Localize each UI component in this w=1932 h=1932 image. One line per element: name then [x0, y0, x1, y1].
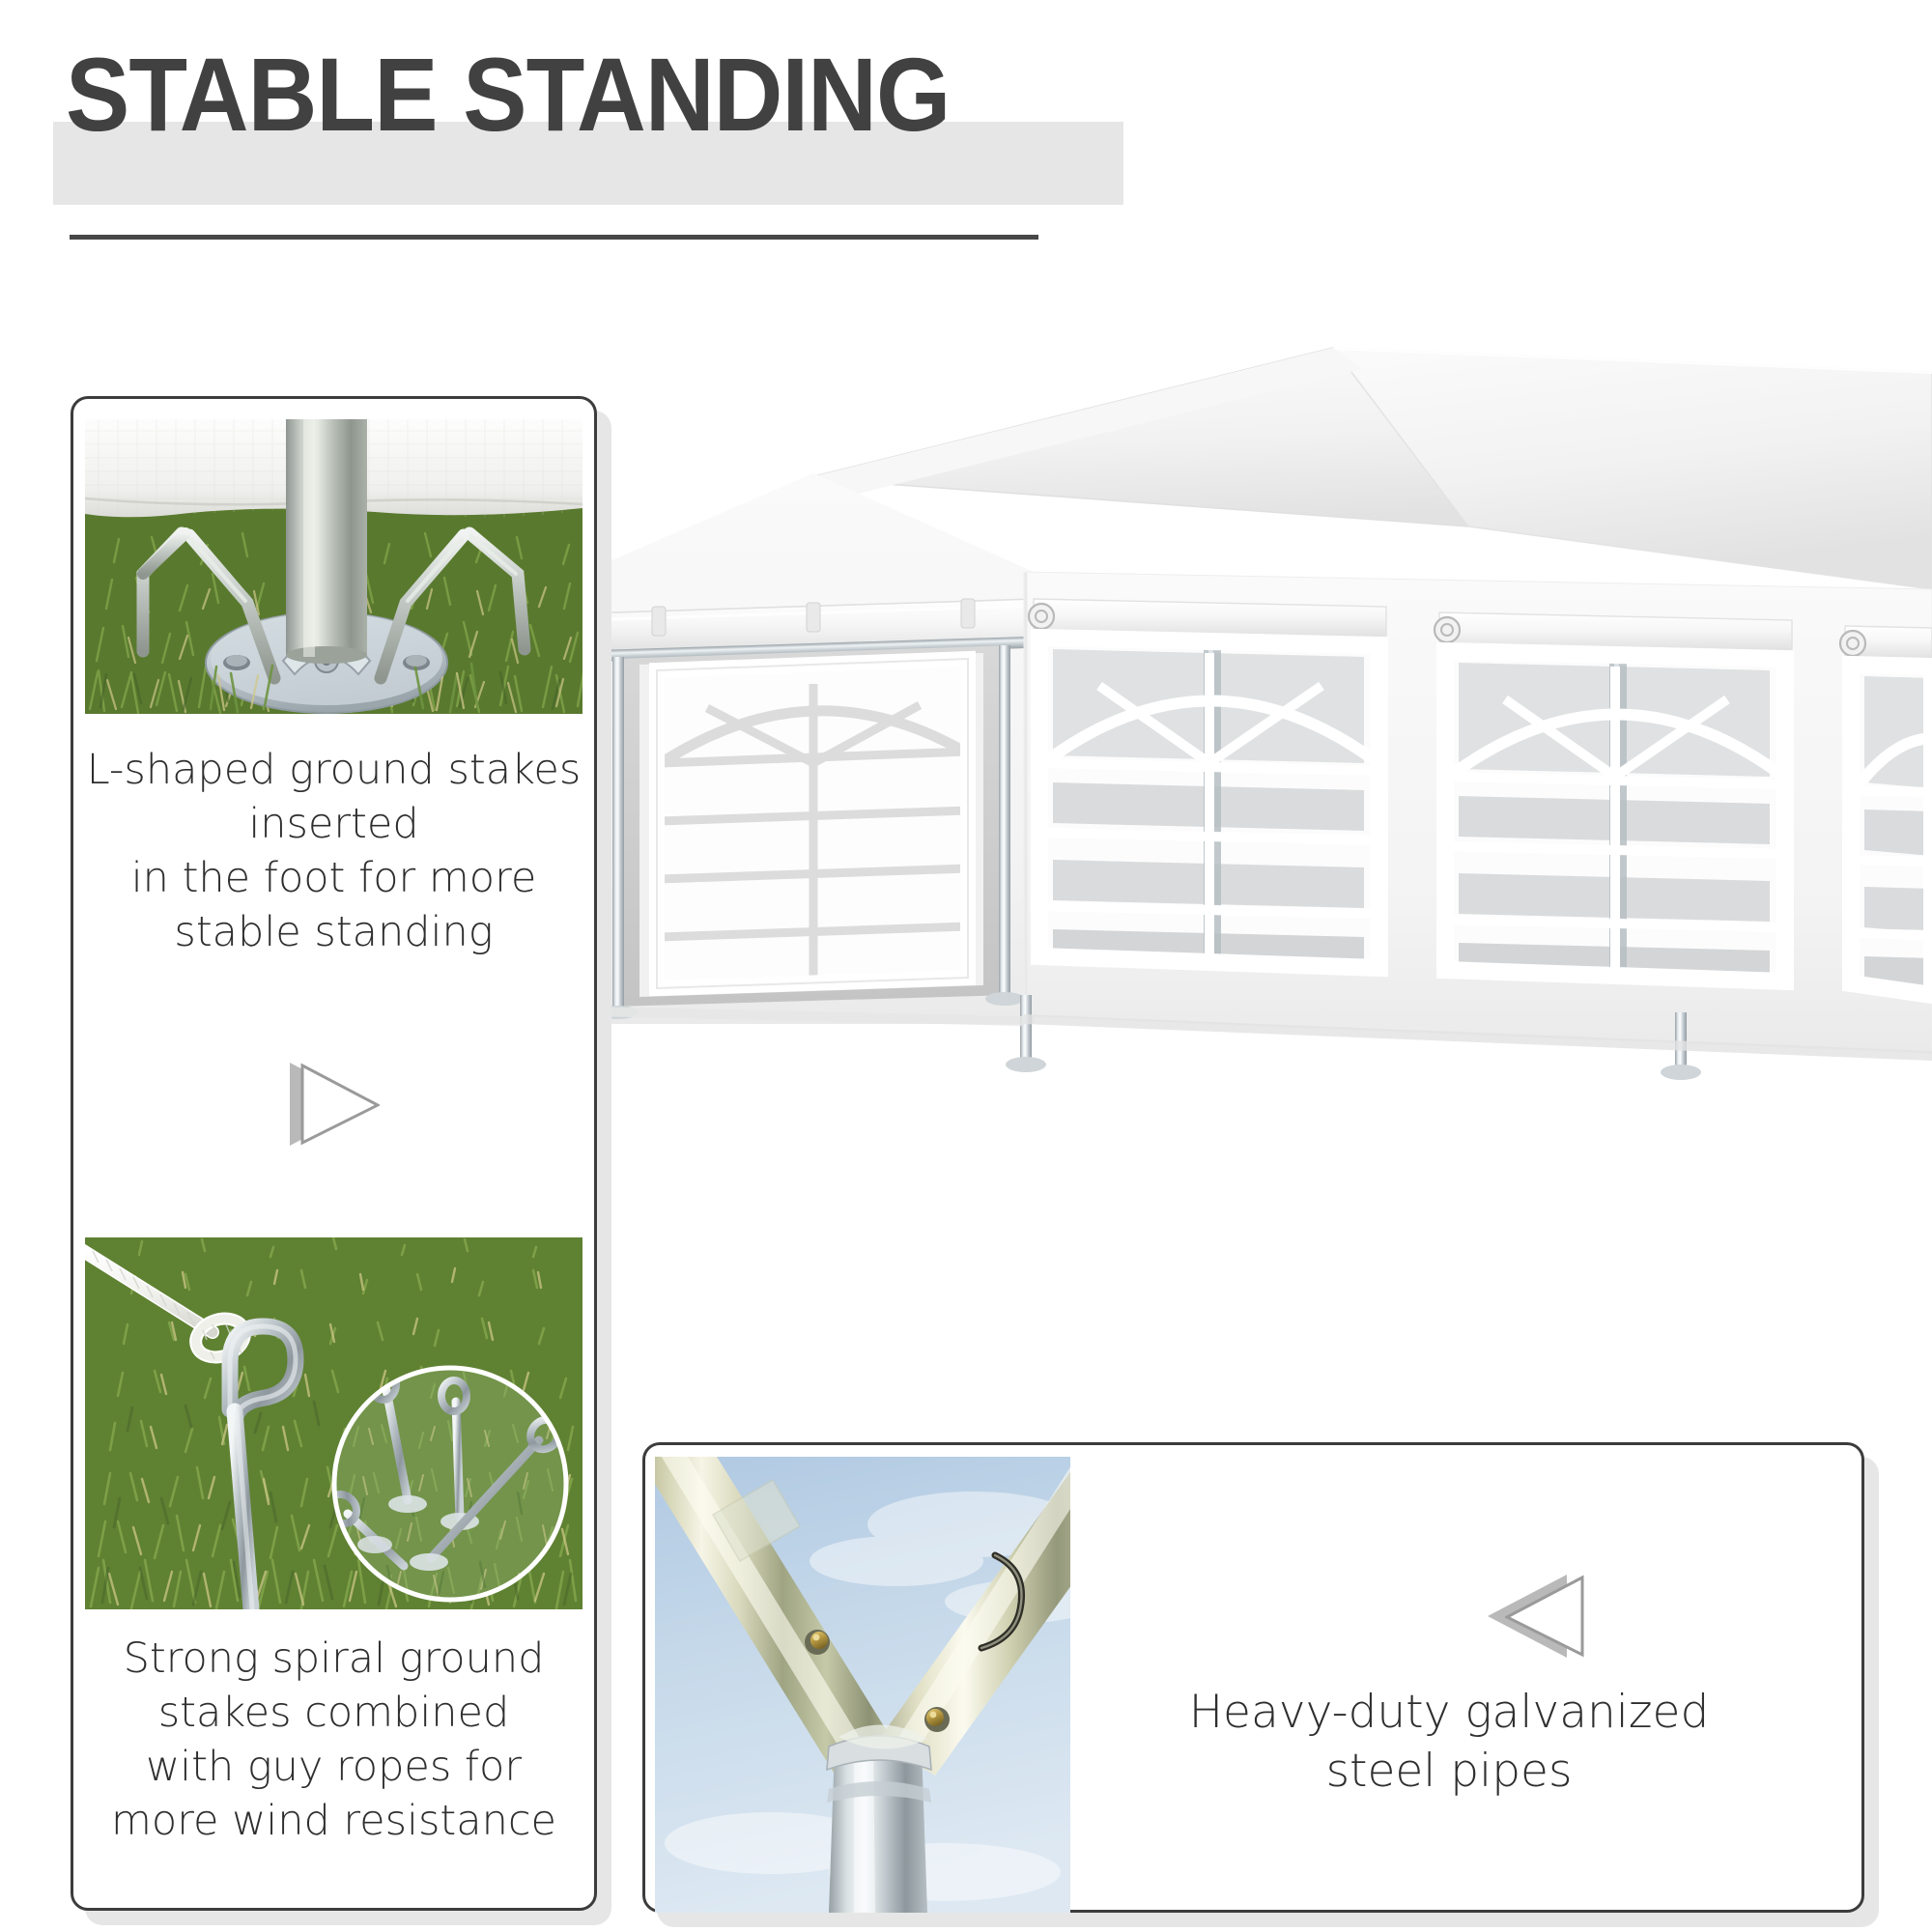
- caption-spiral-stakes: Strong spiral ground stakes combined wit…: [77, 1633, 590, 1849]
- pipe-vertical-leg: [827, 1736, 931, 1913]
- arrow-outline: [300, 1063, 380, 1146]
- carport-party-tent-photo: [599, 280, 1932, 1372]
- play-left-icon: [1488, 1575, 1594, 1658]
- caption-galvanized-pipes: Heavy-duty galvanized steel pipes: [1092, 1683, 1806, 1801]
- foot-pad: [1006, 1057, 1046, 1072]
- front-arch-window: [657, 659, 968, 988]
- tent-illustration: [599, 280, 1932, 1372]
- front-right-post: [999, 645, 1010, 995]
- caption-l-shaped-stakes: L-shaped ground stakes inserted in the f…: [85, 744, 582, 960]
- foot-pad: [1661, 1065, 1701, 1080]
- front-left-post: [612, 657, 624, 1009]
- pole-foot-with-l-stakes-photo: [85, 419, 582, 714]
- title-divider-rule: [70, 235, 1038, 240]
- side-window-3: [1840, 626, 1932, 995]
- page-title: STABLE STANDING: [66, 43, 1310, 147]
- header: STABLE STANDING: [0, 0, 1932, 261]
- side-window-1: [1029, 599, 1386, 968]
- play-right-icon: [290, 1063, 396, 1146]
- spiral-ground-stake-photo: [85, 1237, 582, 1609]
- side-window-2: [1435, 612, 1792, 981]
- galvanized-pipe-joint-photo: [655, 1457, 1070, 1913]
- arrow-outline: [1505, 1575, 1584, 1658]
